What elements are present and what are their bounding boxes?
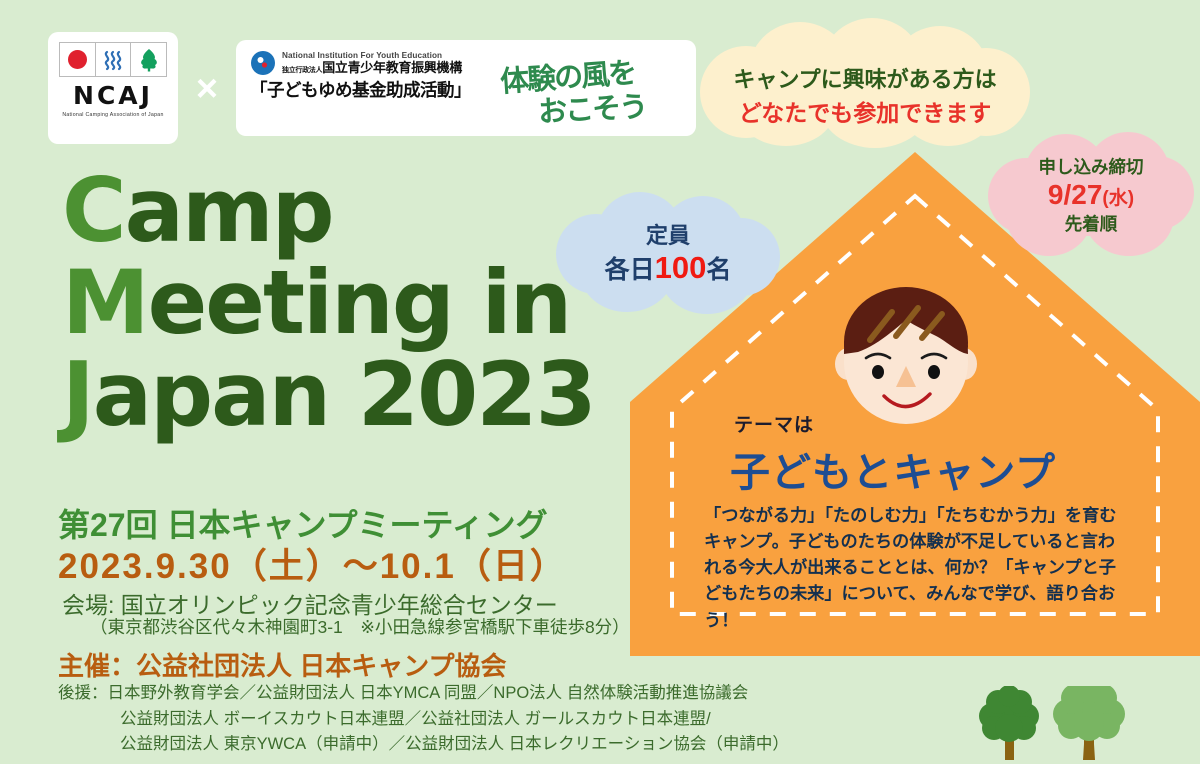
child-face-illustration xyxy=(806,272,1006,442)
cloud-cream-line1: キャンプに興味がある方は xyxy=(700,62,1030,94)
support-line-2: 公益財団法人 ボーイスカウト日本連盟／公益社団法人 ガールスカウト日本連盟/ xyxy=(58,707,789,733)
supporting-organizations: 後援：日本野外教育学会／公益財団法人 日本YMCA 同盟／NPO法人 自然体験活… xyxy=(58,681,789,758)
ncaj-wordmark: NCAJ xyxy=(54,83,172,108)
venue-address: （東京都渋谷区代々木神園町3-1 ※小田急線参宮橋駅下車徒歩8分） xyxy=(90,614,630,639)
capacity-prefix: 各日 xyxy=(605,256,655,284)
cloud-bubble-pink: 申し込み締切 9/27(水) 先着順 xyxy=(988,132,1194,256)
red-circle-icon xyxy=(60,43,96,76)
niye-program: 「子どもゆめ基金助成活動」 xyxy=(250,81,500,100)
deadline-weekday: (水) xyxy=(1102,188,1134,209)
title-line-2-rest: eeting in xyxy=(148,251,571,354)
ncaj-logo: NCAJ National Camping Association of Jap… xyxy=(48,32,178,144)
cloud-pink-line1: 申し込み締切 xyxy=(988,154,1194,179)
ncaj-icon-boxes xyxy=(59,42,167,77)
title-line-2-cap: M xyxy=(62,251,148,354)
tree-illustrations xyxy=(960,686,1200,764)
capacity-suffix: 名 xyxy=(706,256,731,284)
cloud-bubble-blue: 定員 各日100名 xyxy=(556,192,780,314)
ncaj-subtitle: National Camping Association of Japan xyxy=(54,112,172,118)
cloud-pink-line3: 先着順 xyxy=(988,211,1194,236)
support-line-1: 後援：日本野外教育学会／公益財団法人 日本YMCA 同盟／NPO法人 自然体験活… xyxy=(58,684,748,702)
poster-canvas: NCAJ National Camping Association of Jap… xyxy=(0,0,1200,764)
niye-mark-icon xyxy=(250,50,276,76)
cloud-blue-line1: 定員 xyxy=(556,218,780,250)
title-line-1-cap: C xyxy=(62,159,125,262)
event-date: 2023.9.30（土）～10.1（日） xyxy=(58,538,567,589)
kaze-line2: おこそう xyxy=(537,83,647,131)
niye-japanese: 独立行政法人国立青少年教育振興機構 xyxy=(282,61,462,75)
niye-english: National Institution For Youth Education xyxy=(282,51,462,60)
logo-row: NCAJ National Camping Association of Jap… xyxy=(40,30,670,148)
cloud-pink-line2: 9/27(水) xyxy=(988,179,1194,211)
support-line-3: 公益財団法人 東京YWCA（申請中）／公益財団法人 日本レクリエーション協会（申… xyxy=(58,732,789,758)
niye-corp-prefix: 独立行政法人 xyxy=(282,67,322,74)
cloud-blue-line2: 各日100名 xyxy=(556,250,780,286)
cloud-cream-line2: どなたでも参加できます xyxy=(700,94,1030,128)
theme-description: 「つながる力」「たのしむ力」「たちむかう力」を育むキャンプ。子どものたちの体験が… xyxy=(704,502,1124,633)
theme-label: テーマは xyxy=(734,410,814,437)
niye-japanese-name: 国立青少年教育振興機構 xyxy=(322,60,462,75)
cross-icon: × xyxy=(190,72,224,106)
cloud-bubble-cream: キャンプに興味がある方は どなたでも参加できます xyxy=(700,18,1030,148)
green-tree-icon xyxy=(131,43,166,76)
host-organization: 主催：公益社団法人 日本キャンプ協会 xyxy=(58,646,506,683)
deadline-date: 9/27 xyxy=(1048,179,1103,210)
blue-waves-icon xyxy=(96,43,132,76)
light-tree-icon xyxy=(1053,686,1125,760)
kaze-logo: 体験の風を おこそう xyxy=(486,46,686,130)
title-line-1-rest: amp xyxy=(125,159,333,262)
dark-tree-icon xyxy=(979,686,1039,760)
capacity-number: 100 xyxy=(655,250,707,285)
theme-main: 子どもとキャンプ xyxy=(730,440,1056,498)
niye-logo: National Institution For Youth Education… xyxy=(250,50,500,100)
title-line-3-rest: apan 2023 xyxy=(93,343,595,446)
title-line-3: Japan 2023 xyxy=(62,352,662,438)
title-line-3-cap: J xyxy=(62,343,93,446)
niye-logo-card: National Institution For Youth Education… xyxy=(236,40,696,136)
